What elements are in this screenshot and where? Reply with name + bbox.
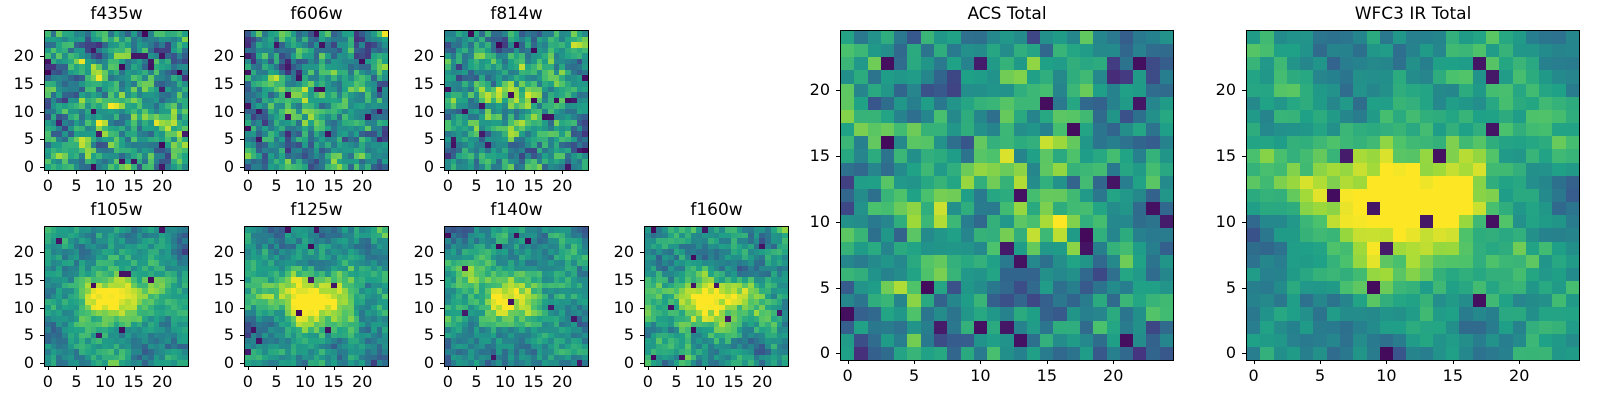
ytick-mark-wfc3-ir-total-20 xyxy=(1242,90,1246,91)
xtick-mark-wfc3-ir-total-0 xyxy=(1254,360,1255,364)
ytick-label-wfc3-ir-total-10: 10 xyxy=(1176,214,1236,230)
plot-area-wfc3-ir-total[interactable] xyxy=(1246,30,1580,361)
xtick-mark-wfc3-ir-total-10 xyxy=(1386,360,1387,364)
ytick-mark-wfc3-ir-total-15 xyxy=(1242,156,1246,157)
xtick-label-wfc3-ir-total-0: 0 xyxy=(1224,368,1284,384)
ytick-label-wfc3-ir-total-20: 20 xyxy=(1176,82,1236,98)
heatmap-wfc3-ir-total xyxy=(1247,31,1579,360)
xtick-mark-wfc3-ir-total-20 xyxy=(1519,360,1520,364)
ytick-label-wfc3-ir-total-0: 0 xyxy=(1176,345,1236,361)
xtick-label-wfc3-ir-total-5: 5 xyxy=(1290,368,1350,384)
ytick-mark-wfc3-ir-total-10 xyxy=(1242,222,1246,223)
ytick-label-wfc3-ir-total-15: 15 xyxy=(1176,148,1236,164)
ytick-label-wfc3-ir-total-5: 5 xyxy=(1176,280,1236,296)
ytick-mark-wfc3-ir-total-5 xyxy=(1242,288,1246,289)
ytick-mark-wfc3-ir-total-0 xyxy=(1242,353,1246,354)
xtick-label-wfc3-ir-total-20: 20 xyxy=(1489,368,1549,384)
xtick-label-wfc3-ir-total-10: 10 xyxy=(1356,368,1416,384)
panel-wfc3-ir-total: WFC3 IR Total0510152005101520 xyxy=(0,0,1600,400)
panel-title-wfc3-ir-total: WFC3 IR Total xyxy=(1246,6,1580,23)
figure-canvas: f435w0510152005101520f606w05101520051015… xyxy=(0,0,1600,400)
xtick-mark-wfc3-ir-total-15 xyxy=(1453,360,1454,364)
xtick-label-wfc3-ir-total-15: 15 xyxy=(1423,368,1483,384)
xtick-mark-wfc3-ir-total-5 xyxy=(1320,360,1321,364)
